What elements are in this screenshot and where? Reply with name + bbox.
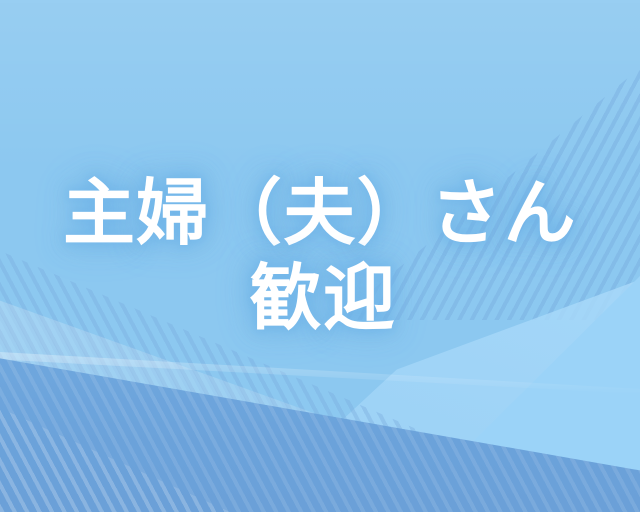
promotional-banner: 主婦（夫）さん 歓迎 <box>0 0 640 512</box>
headline-line-2: 歓迎 <box>250 258 397 339</box>
headline-line-1: 主婦（夫）さん <box>63 173 577 254</box>
headline-block: 主婦（夫）さん 歓迎 <box>0 0 640 512</box>
